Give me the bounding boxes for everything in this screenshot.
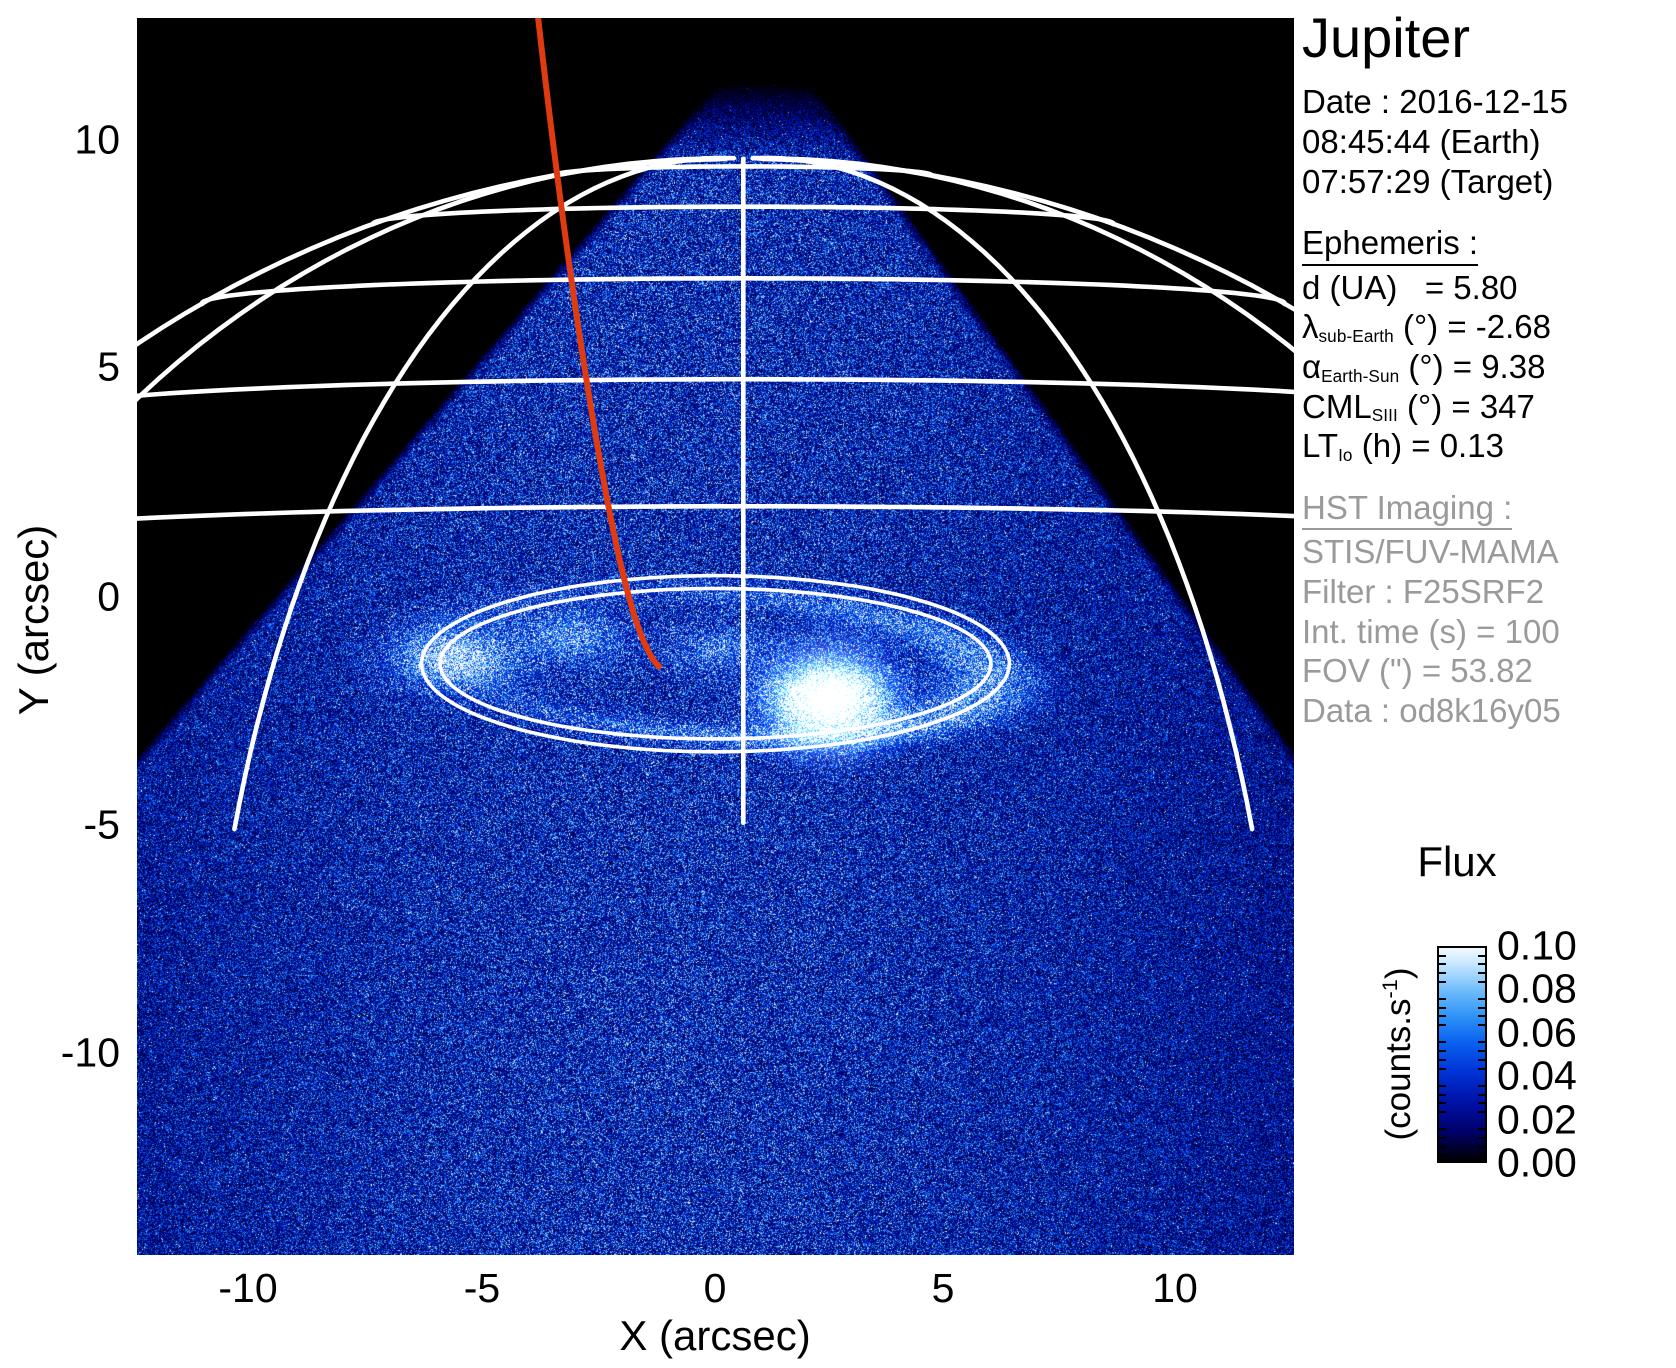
colorbar-minor-tick xyxy=(1437,1015,1446,1017)
colorbar-minor-tick xyxy=(1478,1128,1487,1130)
lt-unit: (h) xyxy=(1362,427,1402,464)
y-tick-label: -10 xyxy=(61,1033,120,1074)
x-axis-title: X (arcsec) xyxy=(619,1312,810,1360)
ephemeris-heading: Ephemeris : xyxy=(1302,223,1478,266)
graticule-line xyxy=(137,379,1294,412)
y-tick-label: 0 xyxy=(97,577,120,618)
colorbar-minor-tick xyxy=(1478,1068,1487,1070)
cml-unit: (°) xyxy=(1407,388,1442,425)
cml-symbol: CML xyxy=(1302,388,1372,425)
colorbar-minor-tick xyxy=(1478,1015,1487,1017)
colorbar-tick-label: 0.08 xyxy=(1497,969,1577,1010)
flux-colorbar xyxy=(1437,946,1487,1163)
colorbar-minor-tick xyxy=(1437,1154,1446,1156)
observation-time-target: 07:57:29 (Target) xyxy=(1302,162,1676,202)
lt-value: = 0.13 xyxy=(1411,427,1504,464)
colorbar-minor-tick xyxy=(1478,963,1487,965)
colorbar-minor-tick xyxy=(1437,1102,1446,1104)
colorbar-minor-tick xyxy=(1437,963,1446,965)
graticule-line xyxy=(137,159,724,575)
instrument-integration-time: Int. time (s) = 100 xyxy=(1302,612,1676,652)
colorbar-unit-exponent: -1 xyxy=(1377,979,1402,998)
colorbar-minor-tick xyxy=(1478,1041,1487,1043)
colorbar-tick-label: 0.10 xyxy=(1497,926,1577,967)
colorbar-unit-label: (counts.s-1) xyxy=(1377,968,1419,1141)
x-tick-label: 0 xyxy=(704,1268,727,1309)
flux-colorbar-block: Flux xyxy=(1302,838,1676,1238)
colorbar-minor-tick xyxy=(1437,1024,1446,1026)
colorbar-minor-tick xyxy=(1478,1102,1487,1104)
lt-subscript: Io xyxy=(1338,445,1353,465)
alpha-value: = 9.38 xyxy=(1453,348,1546,385)
colorbar-unit-close: ) xyxy=(1379,968,1418,980)
alpha-unit: (°) xyxy=(1408,348,1443,385)
colorbar-minor-tick xyxy=(1478,1007,1487,1009)
colorbar-minor-tick xyxy=(1478,1154,1487,1156)
planetographic-grid xyxy=(137,158,1294,830)
colorbar-minor-tick xyxy=(1437,955,1446,957)
colorbar-minor-tick xyxy=(1437,972,1446,974)
colorbar-minor-tick xyxy=(1437,1059,1446,1061)
colorbar-minor-tick xyxy=(1437,1041,1446,1043)
graticule-line xyxy=(760,159,1294,670)
ephemeris-io-local-time: LTIo (h) = 0.13 xyxy=(1302,426,1676,466)
graticule-overlay xyxy=(137,18,1294,1255)
ephemeris-distance: d (UA) = 5.80 xyxy=(1302,268,1676,308)
alpha-subscript: Earth-Sun xyxy=(1321,366,1399,386)
colorbar-minor-tick xyxy=(1478,1137,1487,1139)
colorbar-minor-tick xyxy=(1437,1085,1446,1087)
colorbar-minor-tick xyxy=(1478,1111,1487,1113)
y-tick-label: 5 xyxy=(97,347,120,388)
colorbar-minor-tick xyxy=(1478,981,1487,983)
observation-info-panel: Jupiter Date : 2016-12-15 08:45:44 (Eart… xyxy=(1302,8,1676,730)
y-axis-title: Y (arcsec) xyxy=(10,525,58,716)
colorbar-minor-tick xyxy=(1437,1094,1446,1096)
lambda-value: = -2.68 xyxy=(1447,308,1551,345)
alpha-symbol: α xyxy=(1302,348,1321,385)
colorbar-minor-tick xyxy=(1437,1050,1446,1052)
y-tick-label: 10 xyxy=(74,120,120,161)
aurora-image-plot xyxy=(137,18,1294,1255)
colorbar-minor-tick xyxy=(1437,1111,1446,1113)
colorbar-tick-label: 0.06 xyxy=(1497,1012,1577,1053)
lambda-subscript: sub-Earth xyxy=(1319,326,1394,346)
colorbar-minor-tick xyxy=(1478,1059,1487,1061)
colorbar-minor-tick xyxy=(1478,1024,1487,1026)
colorbar-minor-tick xyxy=(1437,1146,1446,1148)
colorbar-minor-tick xyxy=(1478,972,1487,974)
colorbar-minor-tick xyxy=(1478,1050,1487,1052)
colorbar-minor-tick xyxy=(1437,1128,1446,1130)
page-title: Jupiter xyxy=(1302,8,1676,68)
colorbar-minor-tick xyxy=(1437,1007,1446,1009)
graticule-line xyxy=(234,158,733,829)
graticule-line xyxy=(137,506,1294,545)
graticule-line xyxy=(440,589,991,739)
observation-time-earth: 08:45:44 (Earth) xyxy=(1302,122,1676,162)
ephemeris-phase-angle: αEarth-Sun (°) = 9.38 xyxy=(1302,347,1676,387)
colorbar-minor-tick xyxy=(1437,981,1446,983)
observation-date: Date : 2016-12-15 xyxy=(1302,82,1676,122)
graticule-line xyxy=(422,576,1010,752)
instrument-detector: STIS/FUV-MAMA xyxy=(1302,532,1676,572)
colorbar-tick-label: 0.00 xyxy=(1497,1143,1577,1184)
cml-value: = 347 xyxy=(1451,388,1535,425)
ephemeris-distance-value: = 5.80 xyxy=(1425,269,1518,306)
colorbar-tick-label: 0.02 xyxy=(1497,1099,1577,1140)
ephemeris-distance-label: d (UA) xyxy=(1302,269,1397,306)
ephemeris-sub-earth-longitude: λsub-Earth (°) = -2.68 xyxy=(1302,307,1676,347)
io-footprint-trace xyxy=(537,18,661,668)
x-tick-label: -5 xyxy=(464,1268,500,1309)
colorbar-unit-text: (counts.s xyxy=(1379,998,1418,1140)
lambda-unit: (°) xyxy=(1403,308,1438,345)
colorbar-minor-tick xyxy=(1437,1068,1446,1070)
instrument-filter: Filter : F25SRF2 xyxy=(1302,572,1676,612)
colorbar-minor-tick xyxy=(1437,998,1446,1000)
colorbar-minor-tick xyxy=(1478,955,1487,957)
colorbar-minor-tick xyxy=(1478,998,1487,1000)
lambda-symbol: λ xyxy=(1302,308,1319,345)
graticule-line xyxy=(137,159,727,795)
x-tick-label: 10 xyxy=(1152,1268,1198,1309)
ephemeris-cml: CMLSIII (°) = 347 xyxy=(1302,387,1676,427)
cml-subscript: SIII xyxy=(1372,405,1398,425)
x-tick-label: 5 xyxy=(932,1268,955,1309)
colorbar-minor-tick xyxy=(1478,1146,1487,1148)
instrument-fov: FOV (") = 53.82 xyxy=(1302,651,1676,691)
colorbar-minor-tick xyxy=(1478,1085,1487,1087)
y-tick-label: -5 xyxy=(84,805,120,846)
colorbar-minor-tick xyxy=(1478,1094,1487,1096)
lt-symbol: LT xyxy=(1302,427,1338,464)
x-tick-label: -10 xyxy=(218,1268,277,1309)
instrument-dataset: Data : od8k16y05 xyxy=(1302,691,1676,731)
colorbar-tick-label: 0.04 xyxy=(1497,1056,1577,1097)
instrument-heading: HST Imaging : xyxy=(1302,488,1512,531)
colorbar-minor-tick xyxy=(1437,1137,1446,1139)
colorbar-title: Flux xyxy=(1417,838,1496,886)
graticule-line xyxy=(753,158,1252,829)
